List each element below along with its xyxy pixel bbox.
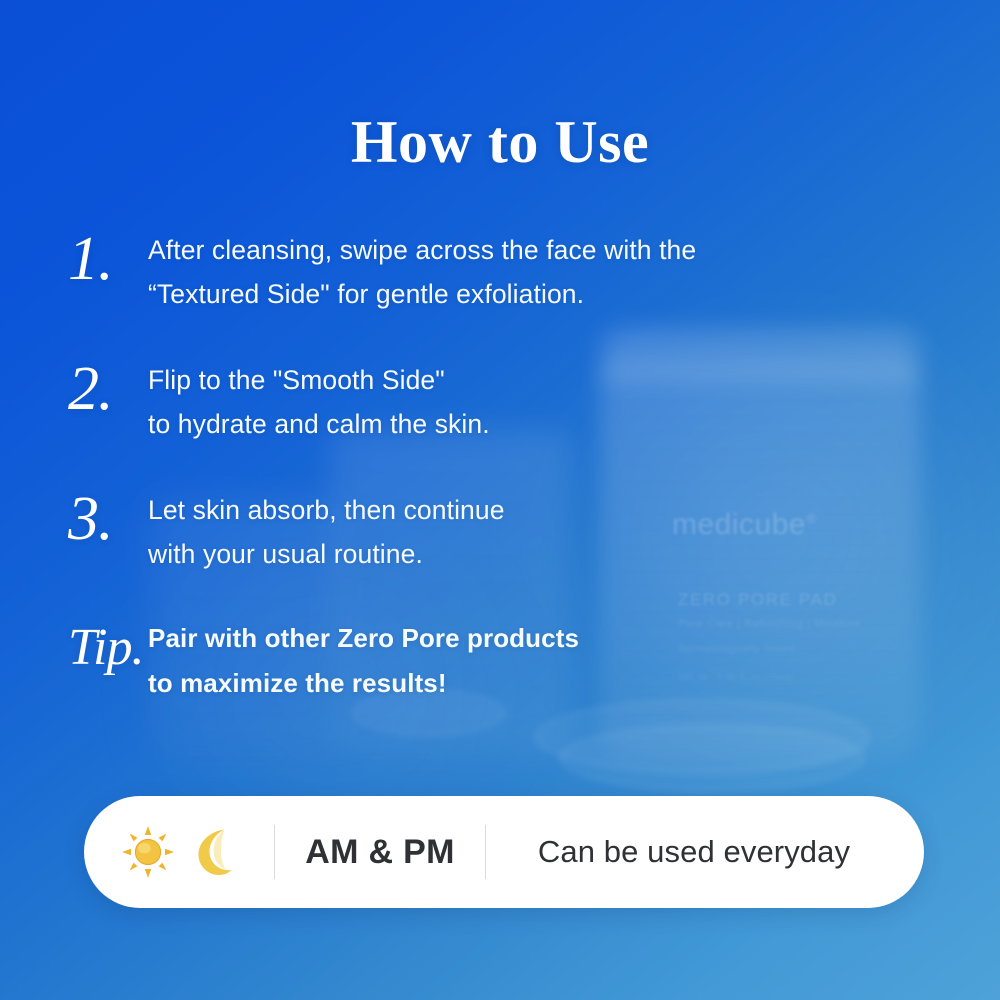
list-item: 1. After cleansing, swipe across the fac… bbox=[0, 216, 1000, 316]
crescent-moon-icon bbox=[187, 825, 237, 879]
step-text: After cleansing, swipe across the face w… bbox=[148, 216, 1000, 316]
step-text: Flip to the "Smooth Side" to hydrate and… bbox=[148, 346, 1000, 446]
step-text-line: “Textured Side" for gentle exfoliation. bbox=[148, 272, 1000, 316]
usage-frequency: Can be used everyday bbox=[486, 834, 924, 870]
how-to-use-infographic: medicube® ZERO PORE PAD Pore Care | Refr… bbox=[0, 0, 1000, 1000]
tip-text-line: Pair with other Zero Pore products bbox=[148, 616, 1000, 661]
step-text-line: to hydrate and calm the skin. bbox=[148, 402, 1000, 446]
step-text-line: Let skin absorb, then continue bbox=[148, 488, 1000, 532]
tip-item: Tip. Pair with other Zero Pore products … bbox=[0, 606, 1000, 706]
tip-label: Tip. bbox=[68, 606, 148, 690]
step-number: 1. bbox=[68, 216, 148, 302]
step-number: 3. bbox=[68, 476, 148, 562]
step-text-line: with your usual routine. bbox=[148, 532, 1000, 576]
usage-time-of-day: AM & PM bbox=[275, 833, 485, 872]
step-text-line: Flip to the "Smooth Side" bbox=[148, 358, 1000, 402]
sun-icon bbox=[121, 825, 175, 879]
step-text-line: After cleansing, swipe across the face w… bbox=[148, 228, 1000, 272]
step-text: Let skin absorb, then continue with your… bbox=[148, 476, 1000, 576]
page-title: How to Use bbox=[0, 108, 1000, 177]
list-item: 2. Flip to the "Smooth Side" to hydrate … bbox=[0, 346, 1000, 446]
step-number: 2. bbox=[68, 346, 148, 432]
list-item: 3. Let skin absorb, then continue with y… bbox=[0, 476, 1000, 576]
tip-text: Pair with other Zero Pore products to ma… bbox=[148, 606, 1000, 706]
tip-text-line: to maximize the results! bbox=[148, 661, 1000, 706]
usage-banner: AM & PM Can be used everyday bbox=[84, 796, 924, 908]
steps-list: 1. After cleansing, swipe across the fac… bbox=[0, 216, 1000, 736]
usage-icons bbox=[84, 825, 274, 879]
